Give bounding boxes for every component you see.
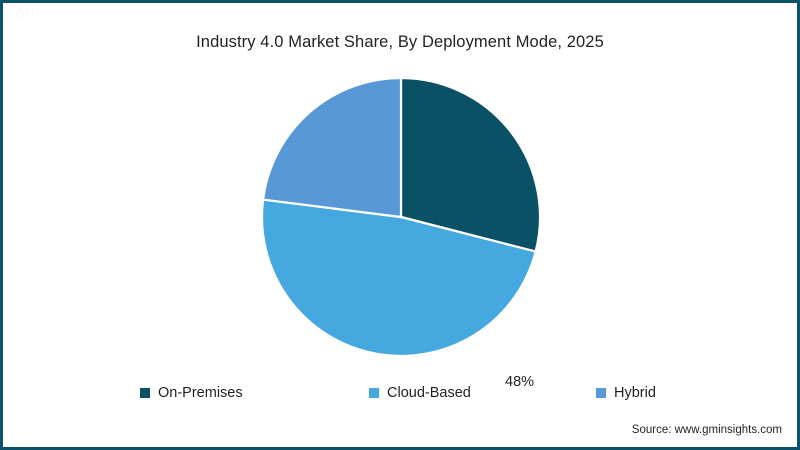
legend-label-hybrid: Hybrid <box>614 385 656 401</box>
pie-chart: 48% <box>262 78 540 356</box>
legend-item-hybrid[interactable]: Hybrid <box>596 382 656 404</box>
chart-legend: On-Premises Cloud-Based Hybrid <box>0 382 800 404</box>
source-attribution: Source: www.gminsights.com <box>632 424 782 436</box>
legend-swatch-cloud-based <box>369 388 379 398</box>
legend-label-cloud-based: Cloud-Based <box>387 385 471 401</box>
chart-title: Industry 4.0 Market Share, By Deployment… <box>0 33 800 52</box>
chart-canvas: GMI Industry 4.0 Market Share, By Deploy… <box>0 0 800 450</box>
legend-swatch-hybrid <box>596 388 606 398</box>
pie-slices <box>262 78 540 356</box>
legend-swatch-on-premises <box>140 388 150 398</box>
pie-slice-hybrid[interactable] <box>263 78 401 217</box>
legend-item-on-premises[interactable]: On-Premises <box>140 382 243 404</box>
pie-svg <box>262 78 540 356</box>
legend-label-on-premises: On-Premises <box>158 385 243 401</box>
legend-item-cloud-based[interactable]: Cloud-Based <box>369 382 471 404</box>
